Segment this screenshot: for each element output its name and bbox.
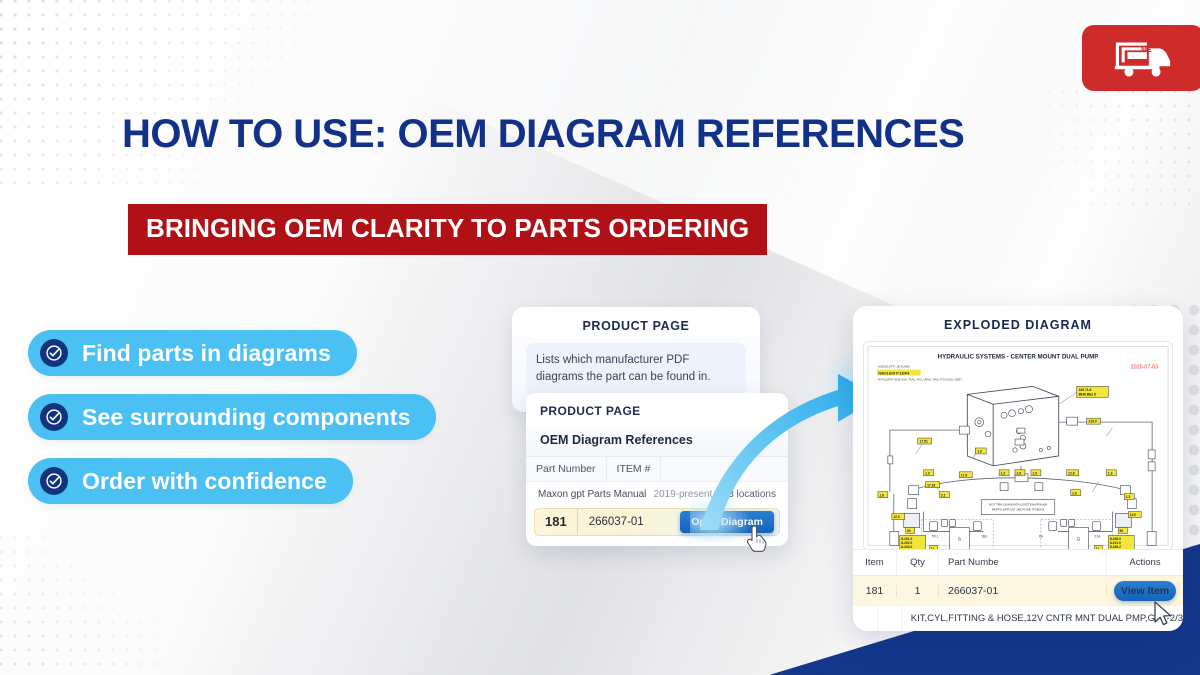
halftone-dots-top-right [986,85,1200,215]
benefit-label: See surrounding components [82,404,410,431]
schematic-title: HYDRAULIC SYSTEMS - CENTER MOUNT DUAL PU… [938,354,1099,361]
svg-text:1BU: 1BU [981,534,988,538]
check-circle-icon [40,467,68,495]
benefit-item-find-parts: Find parts in diagrams [28,330,357,376]
benefit-item-order-confidence: Order with confidence [28,458,353,504]
svg-text:1.8: 1.8 [879,493,884,497]
tab-item-number[interactable]: ITEM # [607,457,662,481]
svg-text:12.0: 12.0 [893,515,900,519]
schematic-corner-tag: ISHCLEIO P 11/9/4 [878,371,909,375]
schematic-corner-label: ACESILATTI JE KUHEI [878,365,910,369]
diagram-sheet[interactable]: HYDRAULIC SYSTEMS - CENTER MOUNT DUAL PU… [863,341,1173,551]
svg-text:1.3: 1.3 [1001,471,1006,475]
cell-actions: View Item [1107,581,1183,601]
logo-text: ME [1141,46,1152,54]
manual-name: Maxon gpt Parts Manual [538,489,646,500]
svg-text:TR.1: TR.1 [932,534,939,538]
svg-text:2.1: 2.1 [941,493,946,497]
benefits-list: Find parts in diagrams See surrounding c… [28,330,436,522]
svg-text:8846 Bbu 8: 8846 Bbu 8 [1079,392,1096,396]
cell-item-empty [853,606,878,631]
svg-text:1.3: 1.3 [1126,495,1131,499]
cell-qty-empty [878,606,902,631]
table-description-row: KIT,CYL,FITTING & HOSE,12V CNTR MNT DUAL… [853,605,1183,631]
svg-text:1.9: 1.9 [977,450,982,454]
svg-text:17.18: 17.18 [927,483,935,487]
schematic-date: 2025-07-03 [1131,365,1158,371]
part-number-value: 266037-01 [578,516,644,528]
col-header-actions: Actions [1107,550,1183,575]
brand-logo: ME [1082,25,1200,91]
col-header-qty: Qty [897,550,939,575]
table-row[interactable]: 181 1 266037-01 View Item [853,576,1183,605]
page-subtitle-banner: BRINGING OEM CLARITY TO PARTS ORDERING [128,204,767,255]
svg-text:12.0: 12.0 [1130,513,1137,517]
svg-text:90: 90 [1120,529,1124,533]
benefit-label: Order with confidence [82,468,327,495]
tab-part-number[interactable]: Part Number [526,457,607,481]
svg-text:1.9: 1.9 [1072,491,1077,495]
svg-text:17.9: 17.9 [961,473,968,477]
svg-text:12.8: 12.8 [1068,471,1075,475]
schematic-label-g: G [1077,536,1081,542]
benefit-item-surrounding-components: See surrounding components [28,394,436,440]
benefit-label: Find parts in diagrams [82,340,331,367]
svg-text:90: 90 [907,529,911,533]
cell-part-number: 266037-01 [939,585,1107,597]
svg-text:1.9: 1.9 [1032,471,1037,475]
schematic-note-line1: NOT TRH QUANSATA GOIZTEIA PRILAW [989,503,1047,507]
delivery-truck-icon: ME [1112,38,1174,78]
parts-table: Item Qty Part Numbe Actions 181 1 266037… [853,549,1183,631]
svg-text:1.3: 1.3 [925,471,930,475]
svg-text:219.0: 219.0 [1089,420,1097,424]
svg-text:1.9: 1.9 [1108,471,1113,475]
cell-part-description: KIT,CYL,FITTING & HOSE,12V CNTR MNT DUAL… [902,613,1183,624]
svg-text:1.8: 1.8 [1017,471,1022,475]
svg-text:17.51: 17.51 [920,440,928,444]
schematic-corner-sub: RYFCLMTAT IGLB IJSU, TAAU, AAU, URNO, AA… [878,377,963,381]
col-header-item: Item [853,550,897,575]
check-circle-icon [40,339,68,367]
hydraulic-schematic: HYDRAULIC SYSTEMS - CENTER MOUNT DUAL PU… [864,342,1172,550]
svg-text:Z1A: Z1A [1095,534,1102,538]
exploded-diagram-title: EXPLODED DIAGRAM [853,306,1183,341]
schematic-note-line2: PARTH WITH RJ JAE FIJAE ITVBOIJI [992,508,1045,512]
parts-table-header: Item Qty Part Numbe Actions [853,549,1183,576]
exploded-diagram-card: EXPLODED DIAGRAM HYDRAULIC SYSTEMS - CEN… [853,306,1183,631]
cell-qty: 1 [897,585,939,597]
view-item-button[interactable]: View Item [1114,581,1176,601]
halftone-dots-bottom-left [0,531,164,675]
page-title: HOW TO USE: OEM DIAGRAM REFERENCES [122,112,964,157]
product-page-intro-title: PRODUCT PAGE [526,319,746,333]
cell-item: 181 [853,585,897,597]
part-item-number: 181 [535,509,578,535]
col-header-part-number: Part Numbe [939,550,1107,575]
check-circle-icon [40,403,68,431]
